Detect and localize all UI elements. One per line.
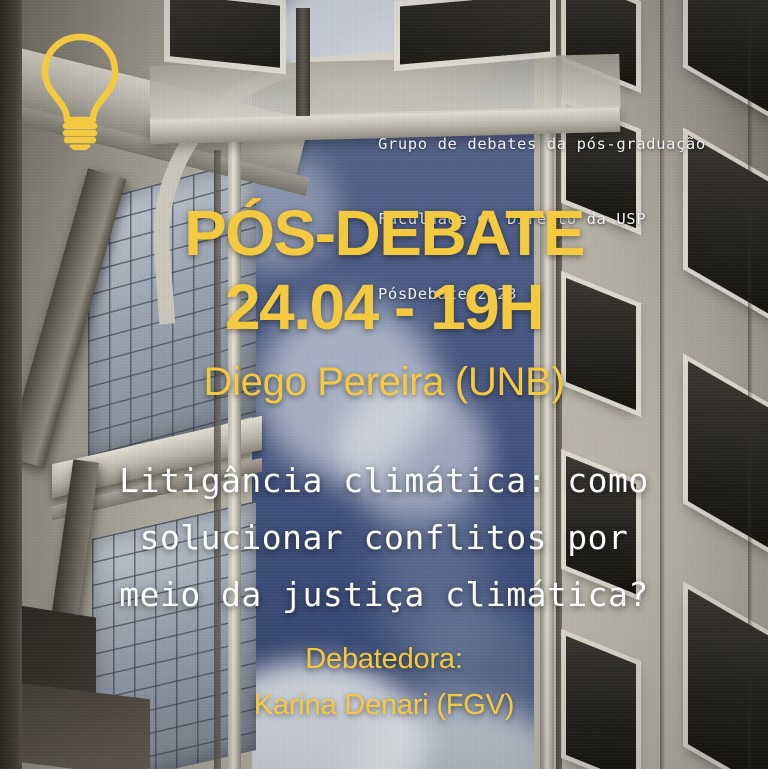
top-window-dark-left	[170, 0, 280, 68]
left-mullion	[228, 120, 241, 769]
left-edge-frame	[0, 0, 22, 769]
right-wall-joint	[660, 0, 665, 769]
lightbulb-icon	[37, 30, 123, 150]
left-mullion-shadow	[214, 150, 221, 769]
right-wall-joint	[748, 0, 753, 769]
top-bracket	[296, 8, 310, 116]
event-poster: Grupo de debates da pós-graduação Faculd…	[0, 0, 768, 769]
